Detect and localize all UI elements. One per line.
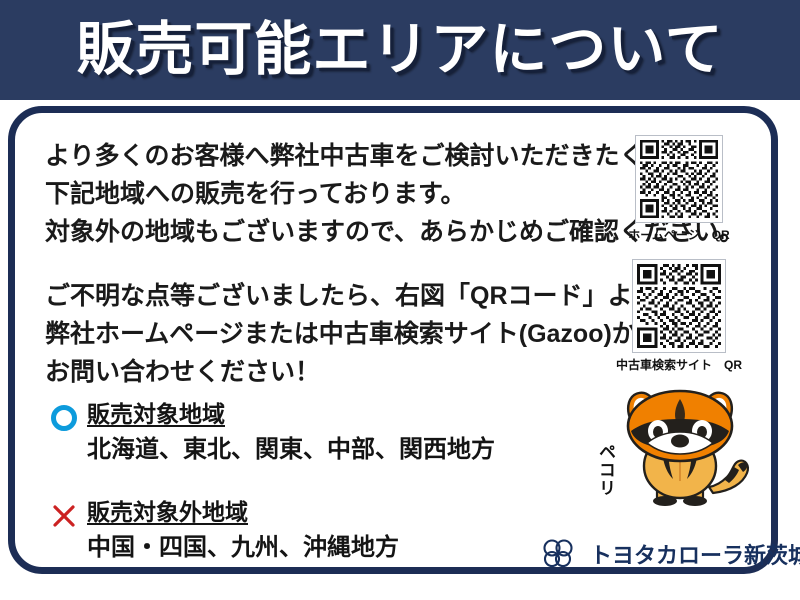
header-divider — [0, 100, 800, 103]
circle-ok-icon — [41, 399, 87, 433]
corolla-emblem-icon — [540, 537, 580, 571]
paragraph-1: より多くのお客様へ弊社中古車をご検討いただきたく、 下記地域への販売を行っており… — [45, 137, 665, 251]
brand-name: トヨタカローラ新茨城 — [590, 538, 800, 570]
qr-code-icon[interactable] — [632, 259, 726, 353]
paragraph-1-line-2: 下記地域への販売を行っております。 — [45, 175, 665, 213]
qr-caption-used-car-search: 中古車検索サイト QR — [616, 356, 742, 373]
region-list-block: 販売対象地域 北海道、東北、関東、中部、関西地方 販売対象外地域 中国・四国、九… — [41, 399, 541, 595]
mascot-sound-text: ペコリ — [593, 443, 618, 497]
region-list-available: 北海道、東北、関東、中部、関西地方 — [87, 433, 495, 467]
header-banner: 販売可能エリアについて — [0, 0, 800, 100]
raccoon-mascot: ペコリ — [575, 381, 785, 531]
paragraph-1-line-3: 対象外の地域もございますので、あらかじめご確認ください。 — [45, 213, 665, 251]
region-row-available: 販売対象地域 北海道、東北、関東、中部、関西地方 — [41, 399, 541, 467]
page-title: 販売可能エリアについて — [76, 21, 723, 79]
qr-code-column: ホームページ QR — [609, 135, 749, 373]
content-card: より多くのお客様へ弊社中古車をご検討いただきたく、 下記地域への販売を行っており… — [8, 106, 778, 574]
qr-block-used-car-search[interactable]: 中古車検索サイト QR — [616, 259, 742, 373]
brand-logo: トヨタカローラ新茨城 — [540, 537, 800, 571]
qr-block-homepage[interactable]: ホームページ QR — [628, 135, 729, 243]
qr-caption-homepage: ホームページ QR — [628, 226, 729, 243]
paragraph-2-line-2: 弊社ホームページまたは中古車検索サイト(Gazoo)から — [45, 315, 665, 353]
paragraph-1-line-1: より多くのお客様へ弊社中古車をご検討いただきたく、 — [45, 137, 665, 175]
body-text-block: より多くのお客様へ弊社中古車をご検討いただきたく、 下記地域への販売を行っており… — [45, 137, 665, 391]
paragraph-2: ご不明な点等ございましたら、右図「QRコード」より 弊社ホームページまたは中古車… — [45, 277, 665, 391]
cross-ng-icon — [41, 497, 87, 531]
poster-root: 販売可能エリアについて より多くのお客様へ弊社中古車をご検討いただきたく、 下記… — [0, 0, 800, 600]
paragraph-2-line-3: お問い合わせください！ — [45, 353, 665, 391]
region-row-unavailable: 販売対象外地域 中国・四国、九州、沖縄地方 — [41, 497, 541, 565]
qr-code-icon[interactable] — [635, 135, 723, 223]
paragraph-2-line-1: ご不明な点等ございましたら、右図「QRコード」より — [45, 277, 665, 315]
region-title-unavailable: 販売対象外地域 — [87, 497, 399, 527]
region-title-available: 販売対象地域 — [87, 399, 495, 429]
region-list-unavailable: 中国・四国、九州、沖縄地方 — [87, 531, 399, 565]
